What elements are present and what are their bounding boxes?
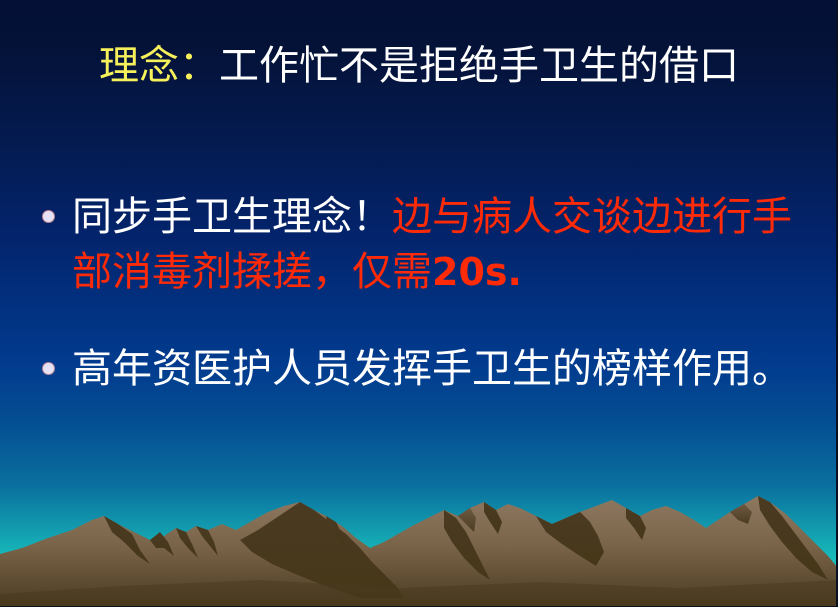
slide-title: 理念：工作忙不是拒绝手卫生的借口 [0,40,838,92]
slide-canvas: 理念：工作忙不是拒绝手卫生的借口 同步手卫生理念！边与病人交谈边进行手部消毒剂揉… [0,0,838,607]
list-item: 高年资医护人员发挥手卫生的榜样作用。 [32,342,812,397]
slide-title-accent: 理念： [99,43,219,89]
bullet-2-line-1-white: 高年资医护人员发挥手卫生的榜样作 [72,346,712,392]
bullet-2-line-2-white: 用。 [712,346,792,392]
bullet-dot-icon [43,363,54,374]
mountain-range-graphic [0,476,838,606]
slide-title-plain: 工作忙不是拒绝手卫生的借口 [219,43,739,89]
bullet-1-line-1-white: 同步手卫生理念！ [72,194,392,240]
bullet-dot-icon [43,211,54,222]
bullet-1-line-1-red: 边与病人交谈边进 [392,194,712,240]
list-item: 同步手卫生理念！边与病人交谈边进行手部消毒剂揉搓，仅需20s. [32,190,812,300]
slide-body: 同步手卫生理念！边与病人交谈边进行手部消毒剂揉搓，仅需20s. 高年资医护人员发… [32,190,812,439]
bullet-1-line-2-latin: 20s. [432,249,522,295]
bullet-1-duration-value: 20s. [432,250,522,294]
